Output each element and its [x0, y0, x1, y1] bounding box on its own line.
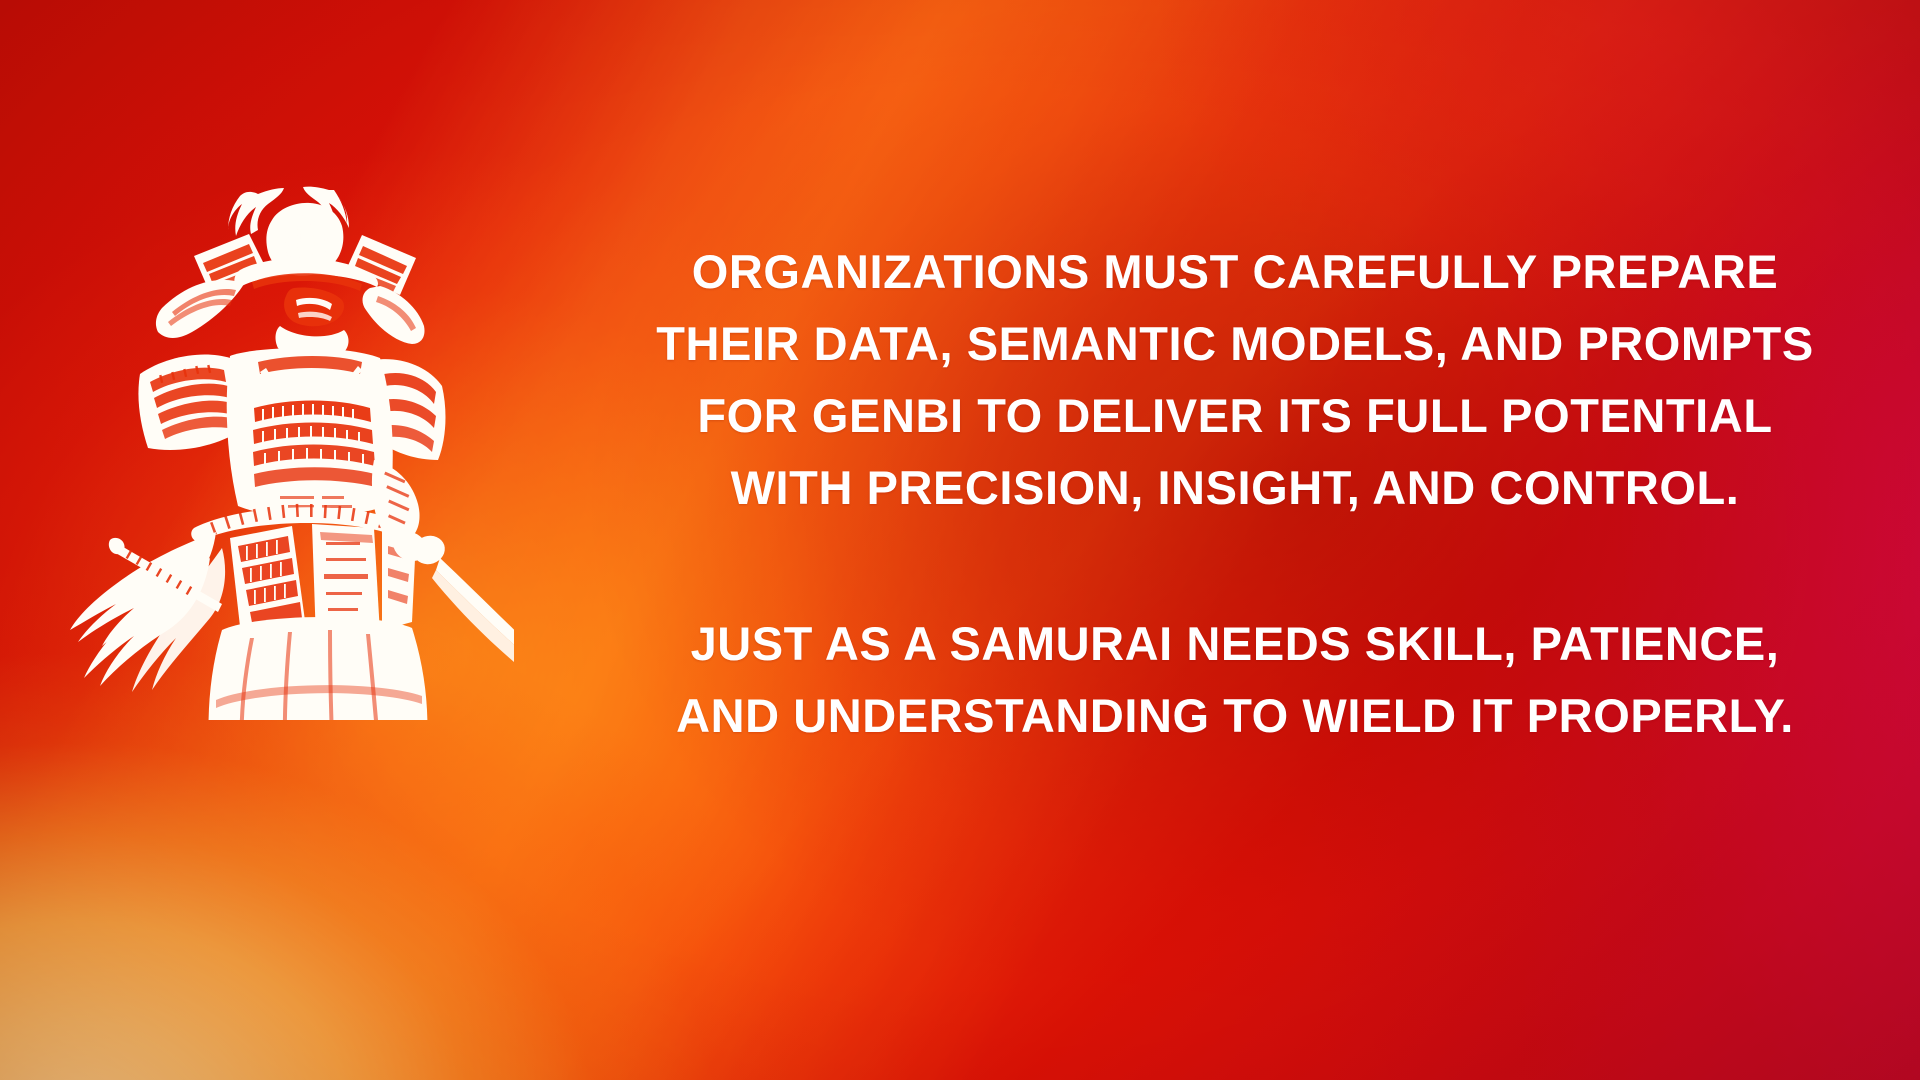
- quote-line: JUST AS A SAMURAI NEEDS SKILL, PATIENCE,: [590, 608, 1880, 680]
- quote-text-block: ORGANIZATIONS MUST CAREFULLY PREPARE THE…: [590, 236, 1880, 752]
- quote-line: AND UNDERSTANDING TO WIELD IT PROPERLY.: [590, 680, 1880, 752]
- paragraph-2: JUST AS A SAMURAI NEEDS SKILL, PATIENCE,…: [590, 608, 1880, 752]
- quote-line: FOR GENBI TO DELIVER ITS FULL POTENTIAL: [590, 380, 1880, 452]
- paragraph-1: ORGANIZATIONS MUST CAREFULLY PREPARE THE…: [590, 236, 1880, 524]
- quote-line: ORGANIZATIONS MUST CAREFULLY PREPARE: [590, 236, 1880, 308]
- slide-canvas: ORGANIZATIONS MUST CAREFULLY PREPARE THE…: [0, 0, 1920, 1080]
- quote-line: THEIR DATA, SEMANTIC MODELS, AND PROMPTS: [590, 308, 1880, 380]
- quote-line: WITH PRECISION, INSIGHT, AND CONTROL.: [590, 452, 1880, 524]
- samurai-illustration: [44, 160, 514, 720]
